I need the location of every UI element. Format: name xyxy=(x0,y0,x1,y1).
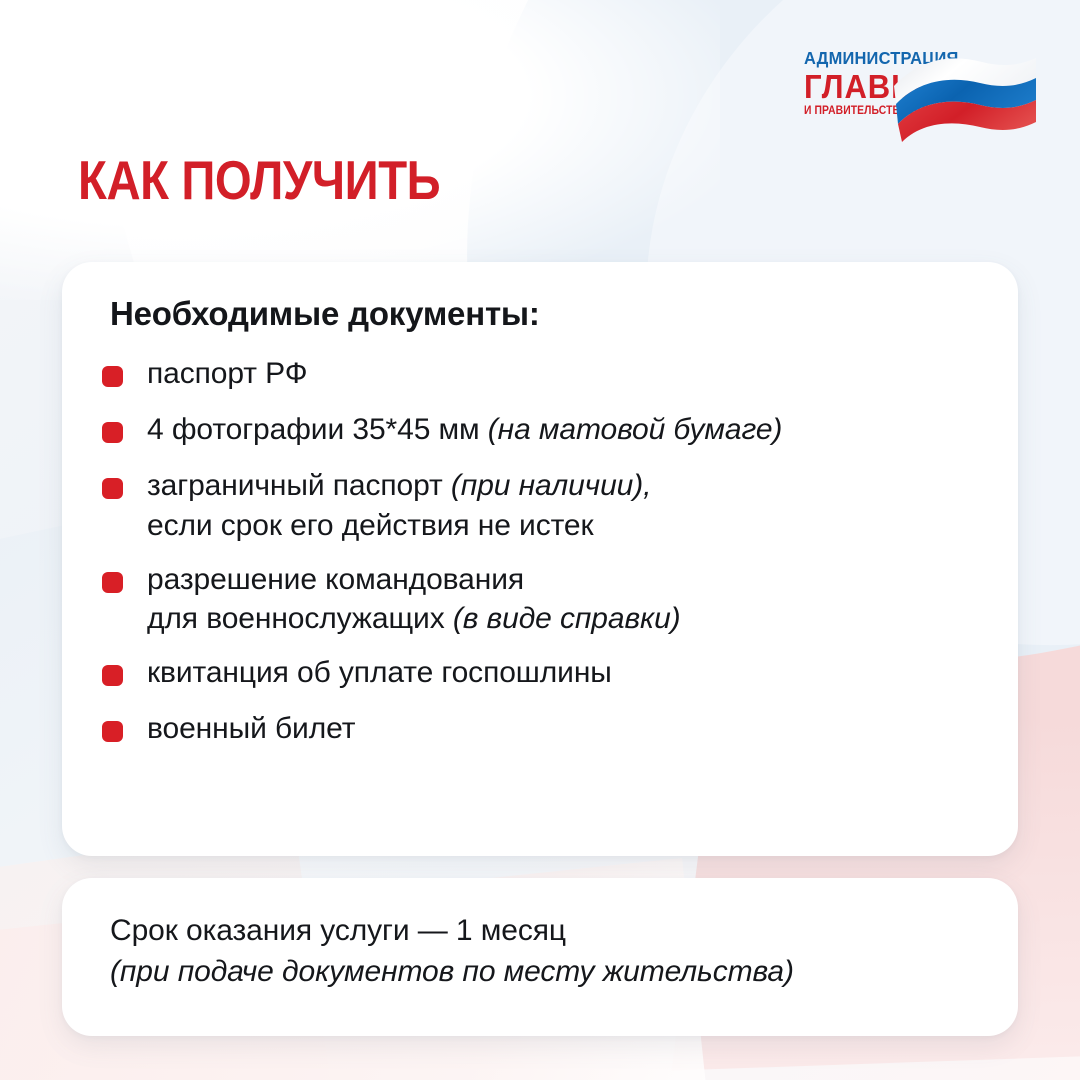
document-text-note: (в виде справки) xyxy=(453,602,681,635)
document-text-plain: разрешение командования xyxy=(147,563,524,596)
document-text-plain: 4 фотографии 35*45 мм xyxy=(147,413,488,446)
document-list-item-line: 4 фотографии 35*45 мм (на матовой бумаге… xyxy=(147,410,782,450)
document-text-plain: если срок его действия не истек xyxy=(147,509,594,542)
document-list-item-text: квитанция об уплате госпошлины xyxy=(147,653,612,693)
document-list-item-text: военный билет xyxy=(147,709,355,749)
poster-header: КАК ПОЛУЧИТЬ ЗАГРАНПАСПОРТ РФ ЧЕРЕЗ МФЦ … xyxy=(0,0,1080,250)
document-text-note: (на матовой бумаге) xyxy=(488,413,783,446)
bullet-square-icon xyxy=(102,366,123,387)
document-text-plain: заграничный паспорт xyxy=(147,469,451,502)
service-term-text: Срок оказания услуги — 1 месяц (при пода… xyxy=(110,910,794,993)
document-list-item-text: паспорт РФ xyxy=(147,354,307,394)
document-text-note: (при наличии), xyxy=(451,469,652,502)
required-documents-list: паспорт РФ4 фотографии 35*45 мм (на мато… xyxy=(102,354,994,765)
poster-root: КАК ПОЛУЧИТЬ ЗАГРАНПАСПОРТ РФ ЧЕРЕЗ МФЦ … xyxy=(0,0,1080,1080)
document-list-item-text: заграничный паспорт (при наличии),если с… xyxy=(147,466,651,546)
document-list-item: квитанция об уплате госпошлины xyxy=(102,653,994,693)
document-list-item-line: военный билет xyxy=(147,709,355,749)
document-list-item: разрешение командованиядля военнослужащи… xyxy=(102,560,994,640)
document-list-item-text: 4 фотографии 35*45 мм (на матовой бумаге… xyxy=(147,410,782,450)
bullet-square-icon xyxy=(102,665,123,686)
bullet-square-icon xyxy=(102,721,123,742)
service-term-card: Срок оказания услуги — 1 месяц (при пода… xyxy=(62,878,1018,1036)
organization-logo: АДМИНИСТРАЦИЯ ГЛАВЫ И ПРАВИТЕЛЬСТВА ДНР xyxy=(804,48,1032,152)
document-text-plain: квитанция об уплате госпошлины xyxy=(147,656,612,689)
document-text-plain: паспорт РФ xyxy=(147,357,307,390)
document-list-item: паспорт РФ xyxy=(102,354,994,394)
document-list-item-text: разрешение командованиядля военнослужащи… xyxy=(147,560,681,640)
document-text-plain: для военнослужащих xyxy=(147,602,453,635)
document-list-item: 4 фотографии 35*45 мм (на матовой бумаге… xyxy=(102,410,994,450)
bullet-square-icon xyxy=(102,422,123,443)
bullet-square-icon xyxy=(102,572,123,593)
service-term-line-1: Срок оказания услуги — 1 месяц xyxy=(110,910,794,951)
document-list-item: заграничный паспорт (при наличии),если с… xyxy=(102,466,994,546)
document-list-item-line: заграничный паспорт (при наличии), xyxy=(147,466,651,506)
required-documents-card: Необходимые документы: паспорт РФ4 фотог… xyxy=(62,262,1018,856)
document-list-item-line: разрешение командования xyxy=(147,560,681,600)
document-list-item: военный билет xyxy=(102,709,994,749)
russian-tricolor-flag-icon xyxy=(890,52,1040,148)
document-list-item-line: если срок его действия не истек xyxy=(147,506,651,546)
service-term-line-2: (при подаче документов по месту жительст… xyxy=(110,951,794,992)
document-list-item-line: квитанция об уплате госпошлины xyxy=(147,653,612,693)
document-list-item-line: для военнослужащих (в виде справки) xyxy=(147,599,681,639)
page-title-line-1: КАК ПОЛУЧИТЬ xyxy=(78,154,574,208)
document-text-plain: военный билет xyxy=(147,712,355,745)
bullet-square-icon xyxy=(102,478,123,499)
required-documents-heading: Необходимые документы: xyxy=(110,295,540,333)
document-list-item-line: паспорт РФ xyxy=(147,354,307,394)
